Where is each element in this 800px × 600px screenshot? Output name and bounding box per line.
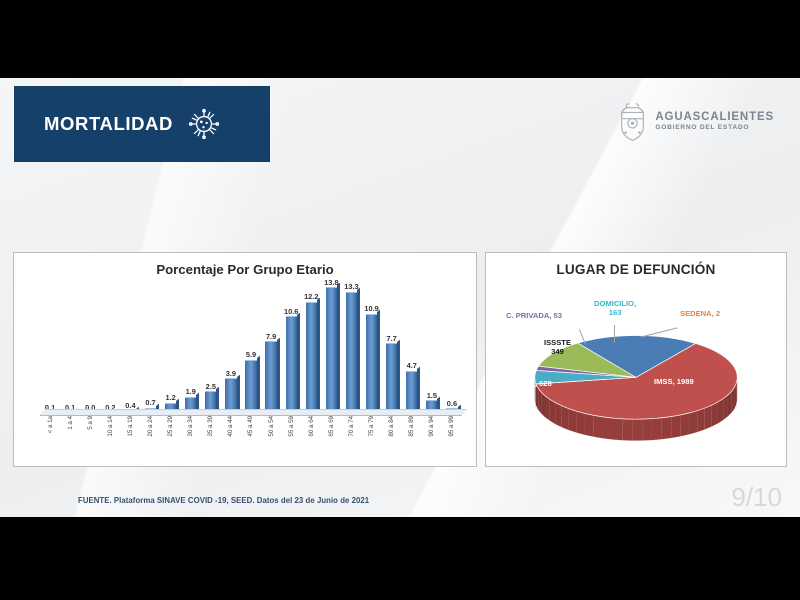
x-tick-label: 50 a 54 — [261, 416, 281, 462]
pie-slice-side — [577, 411, 585, 435]
bar: 5.9 — [245, 360, 256, 414]
pie-slice-side — [569, 409, 577, 433]
x-tick-label: 80 a 84 — [382, 416, 402, 462]
pie-slice-side — [671, 415, 680, 438]
x-tick-label: 20 a 24 — [140, 416, 160, 462]
pie-slice-side — [689, 411, 697, 435]
bar-item: 2.5 — [201, 287, 221, 414]
bar-value-label: 5.9 — [246, 350, 256, 359]
pie-slice-side — [705, 405, 712, 429]
bar-value-label: 13.8 — [324, 278, 338, 287]
bar-value-label: 3.9 — [226, 369, 236, 378]
bar-item: 5.9 — [241, 287, 261, 414]
page-title: MORTALIDAD — [44, 113, 173, 135]
bar-item: 1.5 — [422, 287, 442, 414]
pie-slice-side — [545, 396, 550, 421]
bar-value-label: 0.6 — [447, 399, 457, 408]
pie-label-domicilio: DOMICILIO, 163 — [594, 299, 636, 317]
x-tick-label: 70 a 74 — [341, 416, 361, 462]
pie-slice-side — [555, 403, 561, 428]
bar-value-label: 12.2 — [304, 292, 318, 301]
x-tick-label: 95 a 99 — [442, 416, 462, 462]
pie-slice-side — [697, 408, 705, 432]
bar-value-label: 1.9 — [186, 387, 196, 396]
source-note: FUENTE. Plataforma SINAVE COVID -19, SEE… — [78, 496, 369, 505]
page-number: 9/10 — [731, 482, 782, 513]
pie-chart-title: LUGAR DE DEFUNCIÓN — [486, 262, 786, 277]
leader-line-domicilio — [614, 325, 615, 343]
pie-slice-side — [603, 417, 613, 440]
bar-item: 7.9 — [261, 287, 281, 414]
bar-item: 12.2 — [301, 287, 321, 414]
pie-slice-side — [662, 417, 671, 440]
bar-value-label: 10.9 — [364, 304, 378, 313]
pie-slice-side — [632, 419, 642, 440]
bar: 7.9 — [265, 341, 276, 414]
bar-item: 0.6 — [442, 287, 462, 414]
logo-line-1: AGUASCALIENTES — [655, 111, 774, 124]
virus-icon — [187, 107, 221, 141]
bar-item: 13.3 — [341, 287, 361, 414]
logo-line-2: GOBIERNO DEL ESTADO — [655, 124, 774, 131]
pie-slice-side — [723, 395, 728, 420]
bar-value-label: 7.7 — [387, 334, 397, 343]
x-tick-label: 10 a 14 — [100, 416, 120, 462]
pie-slice-side — [642, 419, 652, 441]
x-tick-label: 15 a 19 — [120, 416, 140, 462]
x-tick-label: 30 a 34 — [181, 416, 201, 462]
x-tick-label: 45 a 49 — [241, 416, 261, 462]
x-tick-label: 85 a 89 — [402, 416, 422, 462]
slide-title-band: MORTALIDAD — [14, 86, 270, 162]
pie-label-c-privada: C. PRIVADA, 53 — [506, 311, 562, 320]
x-tick-label: 40 a 44 — [221, 416, 241, 462]
bar-item: 0.0 — [80, 287, 100, 414]
bar-item: 0.1 — [60, 287, 80, 414]
pie-slice-side — [652, 418, 662, 440]
pie-chart-panel: LUGAR DE DEFUNCIÓN DOMICILIO, 163 C. PRI… — [485, 252, 787, 467]
bar-item: 0.2 — [100, 287, 120, 414]
bar-item: 10.6 — [281, 287, 301, 414]
bar-value-label: 2.5 — [206, 382, 216, 391]
bar-item: 0.4 — [120, 287, 140, 414]
bar: 10.9 — [366, 314, 377, 414]
x-tick-label: 55 a 59 — [281, 416, 301, 462]
bar: 10.6 — [286, 316, 297, 414]
bar-item: 1.9 — [181, 287, 201, 414]
pie-slice-side — [541, 392, 545, 417]
bar: 7.7 — [386, 343, 397, 414]
screenshot-stage: MORTALIDAD — [0, 0, 800, 600]
bar: 13.3 — [346, 292, 357, 414]
bar-item: 0.7 — [140, 287, 160, 414]
presentation-slide: MORTALIDAD — [0, 78, 800, 517]
bar: 4.7 — [406, 371, 417, 414]
x-tick-label: 25 a 29 — [161, 416, 181, 462]
pie-plot-area: DOMICILIO, 163 C. PRIVADA, 53 SEDENA, 2 … — [490, 283, 782, 460]
bar-series: 0.10.10.00.20.40.71.21.92.53.95.97.910.6… — [40, 287, 462, 414]
bar-item: 13.8 — [321, 287, 341, 414]
bar-value-label: 1.2 — [165, 393, 175, 402]
bar-item: 3.9 — [221, 287, 241, 414]
bar-item: 7.7 — [382, 287, 402, 414]
pie-slice-side — [594, 415, 603, 438]
x-tick-label: 90 a 94 — [422, 416, 442, 462]
x-tick-label: < a 1a — [40, 416, 60, 462]
bar-item: 0.1 — [40, 287, 60, 414]
bar-value-label: 7.9 — [266, 332, 276, 341]
bar-chart-title: Porcentaje Por Grupo Etario — [14, 262, 476, 277]
pie-label-sedena: SEDENA, 2 — [680, 309, 720, 318]
pie-slice-side — [680, 413, 689, 436]
bar-item: 4.7 — [402, 287, 422, 414]
bar-value-label: 13.3 — [344, 282, 358, 291]
bar-value-label: 4.7 — [407, 361, 417, 370]
pie-label-issea: ISSEA, 628 — [512, 379, 552, 388]
pie-slice-side — [562, 406, 569, 430]
pie-slice-side — [550, 399, 556, 424]
x-tick-label: 60 a 64 — [301, 416, 321, 462]
pie-slice-side — [712, 402, 718, 427]
x-tick-label: 1 a 4 — [60, 416, 80, 462]
pie-label-issste: ISSSTE 349 — [544, 339, 571, 356]
bar-value-label: 0.7 — [145, 398, 155, 407]
x-tick-label: 65 a 69 — [321, 416, 341, 462]
bar-item: 10.9 — [362, 287, 382, 414]
x-tick-label: 35 a 39 — [201, 416, 221, 462]
bar: 12.2 — [306, 302, 317, 414]
bar-item: 1.2 — [161, 287, 181, 414]
bar: 13.8 — [326, 287, 337, 414]
pie-slice-side — [585, 413, 594, 436]
state-logo: AGUASCALIENTES GOBIERNO DEL ESTADO — [617, 100, 774, 142]
bar-chart-panel: Porcentaje Por Grupo Etario 0.10.10.00.2… — [13, 252, 477, 467]
bar-plot-area: 0.10.10.00.20.40.71.21.92.53.95.97.910.6… — [40, 287, 462, 414]
pie-label-imss: IMSS, 1989 — [654, 377, 694, 386]
x-tick-label: 75 a 79 — [362, 416, 382, 462]
bar-value-label: 10.6 — [284, 307, 298, 316]
bar-value-label: 1.5 — [427, 391, 437, 400]
pie-slice-side — [622, 419, 632, 441]
pie-slice-side — [613, 418, 623, 440]
pie-slice-side — [718, 398, 723, 423]
coat-of-arms-icon — [617, 100, 648, 142]
bar-x-tick-labels: < a 1a1 a 45 a 910 a 1415 a 1920 a 2425 … — [40, 416, 462, 462]
x-tick-label: 5 a 9 — [80, 416, 100, 462]
